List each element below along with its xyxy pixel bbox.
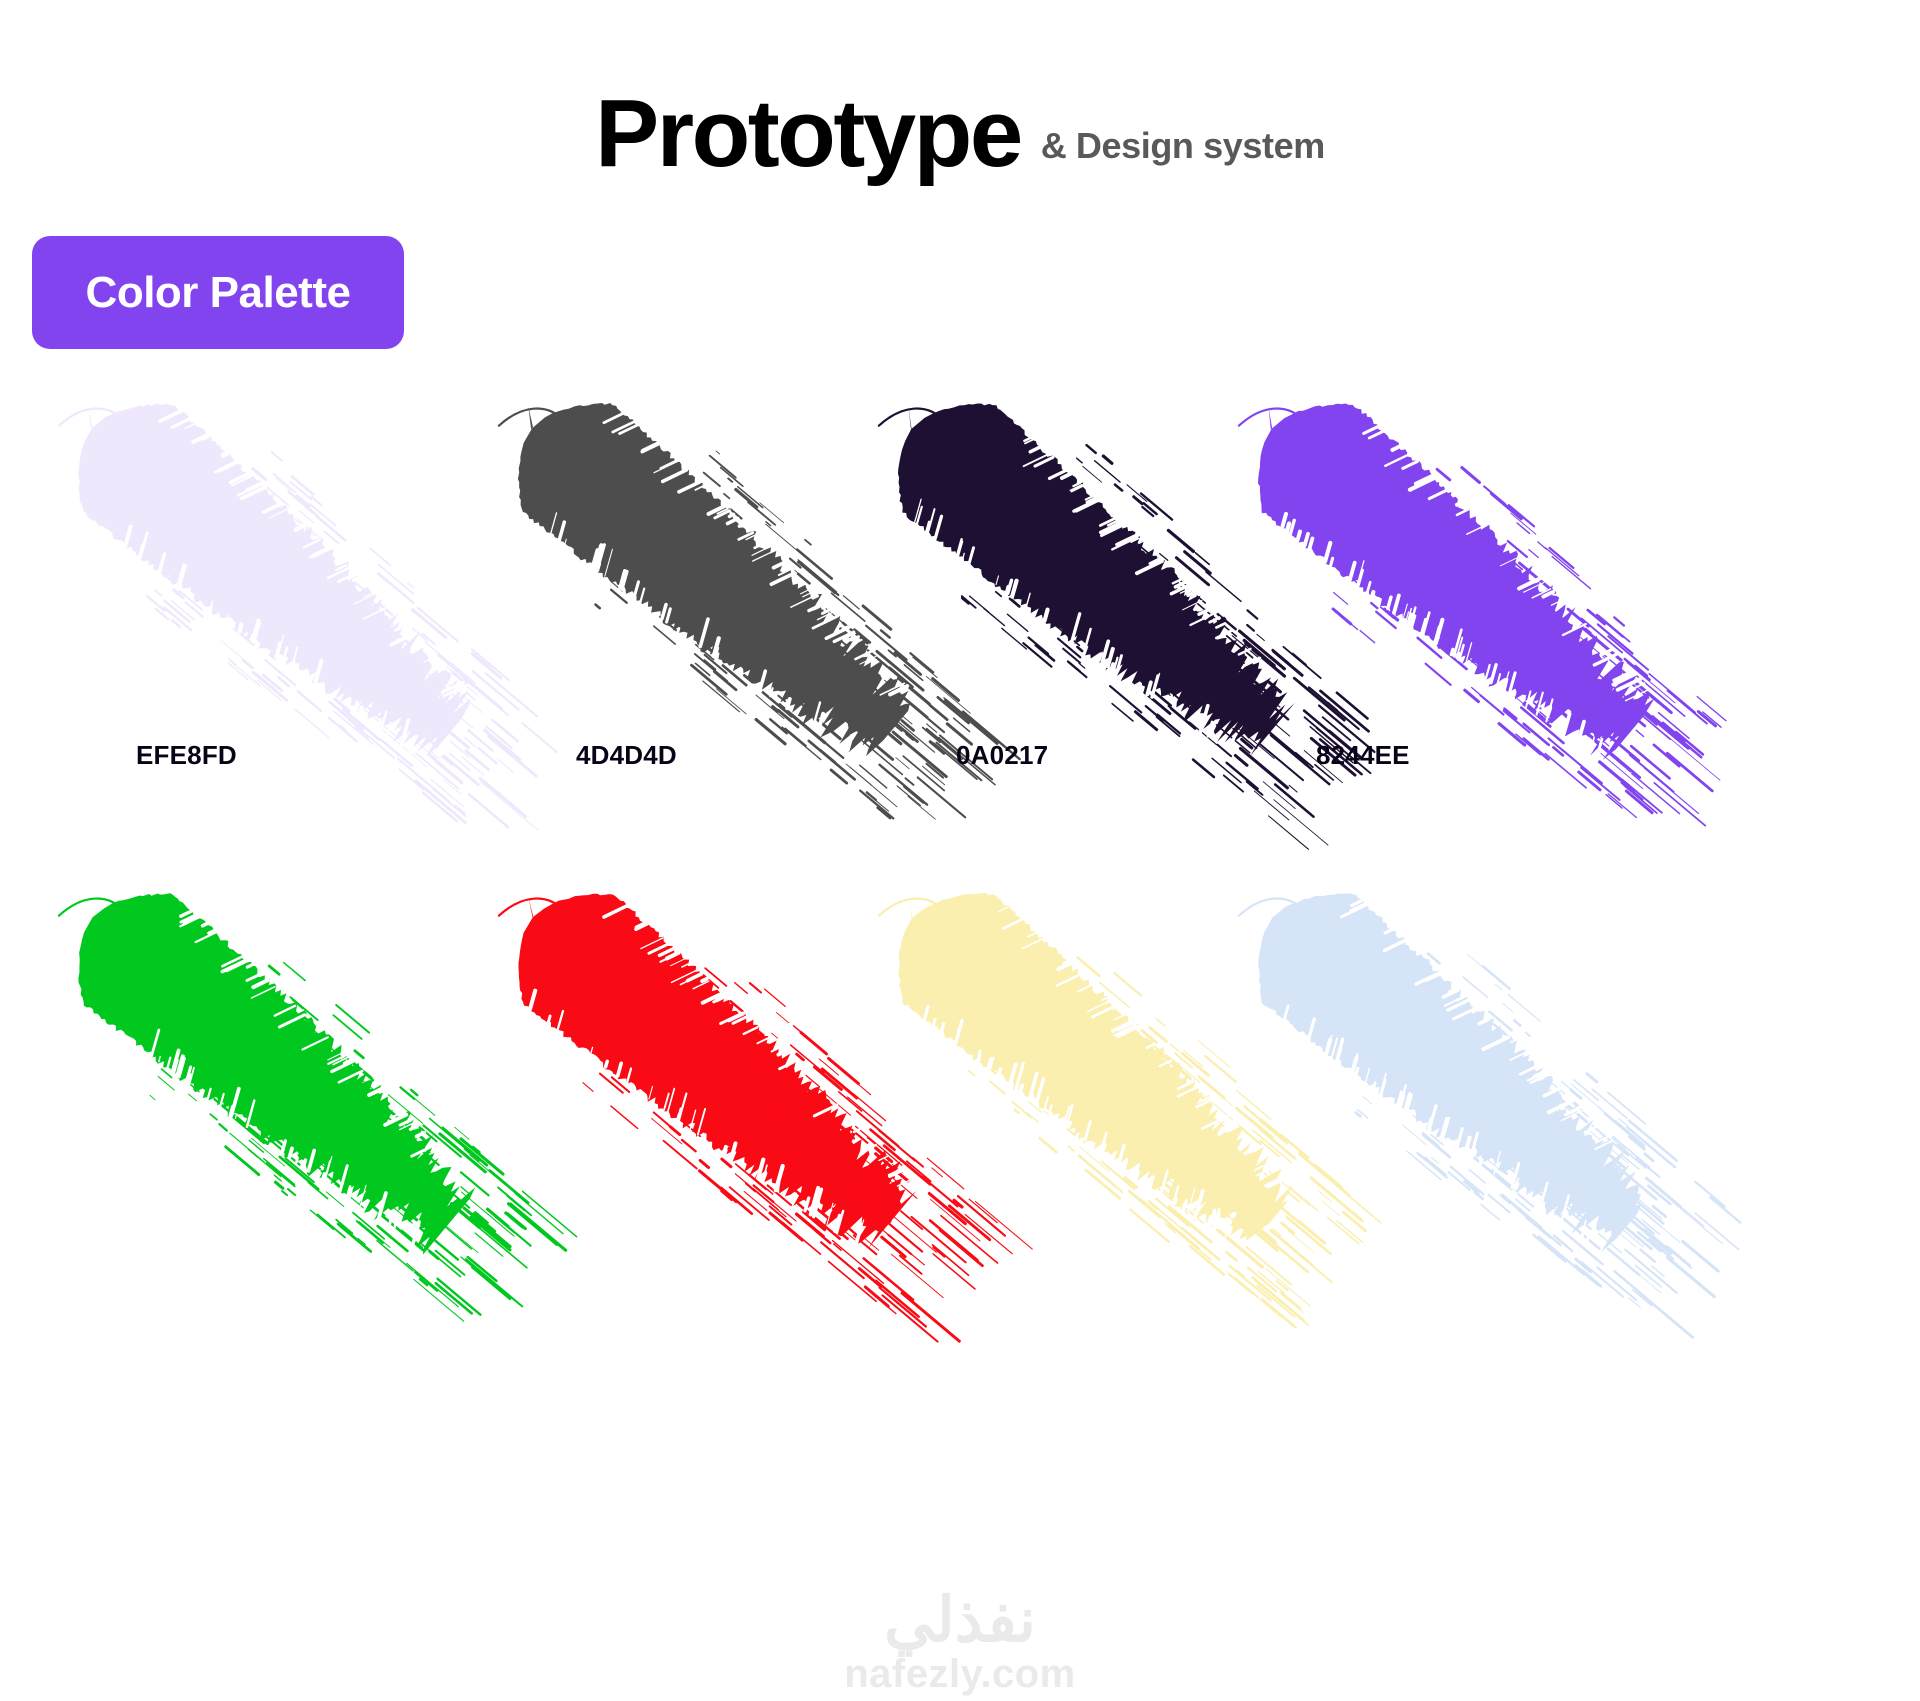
- page-subtitle: & Design system: [1041, 128, 1325, 164]
- watermark-latin-text: nafezly.com: [0, 1653, 1920, 1695]
- section-badge-color-palette[interactable]: Color Palette: [32, 236, 404, 349]
- color-swatch[interactable]: [20, 890, 500, 1330]
- color-hex-label: EFE8FD: [136, 740, 237, 771]
- color-hex-label: 4D4D4D: [576, 740, 677, 771]
- brush-stroke-icon: [20, 890, 500, 1260]
- color-hex-label: 0A0217: [956, 740, 1048, 771]
- palette-row: EFE8FD 4D4D4D 0A0217 8244EE: [0, 400, 1920, 840]
- page-title: Prototype: [595, 86, 1021, 182]
- color-swatch[interactable]: 8244EE: [1200, 400, 1680, 840]
- color-swatch[interactable]: [1200, 890, 1680, 1330]
- watermark: نفذلي nafezly.com: [0, 1588, 1920, 1695]
- color-swatch[interactable]: EFE8FD: [20, 400, 500, 840]
- color-hex-label: 8244EE: [1316, 740, 1410, 771]
- page-header: Prototype& Design system: [0, 86, 1920, 182]
- palette-row: [0, 890, 1920, 1330]
- brush-stroke-icon: [20, 400, 500, 770]
- watermark-arabic-text: نفذلي: [0, 1588, 1920, 1653]
- color-palette-grid: EFE8FD 4D4D4D 0A0217 8244EE: [0, 400, 1920, 1330]
- section-badge-label: Color Palette: [86, 268, 351, 318]
- brush-stroke-icon: [1200, 400, 1680, 770]
- brush-stroke-icon: [1200, 890, 1680, 1260]
